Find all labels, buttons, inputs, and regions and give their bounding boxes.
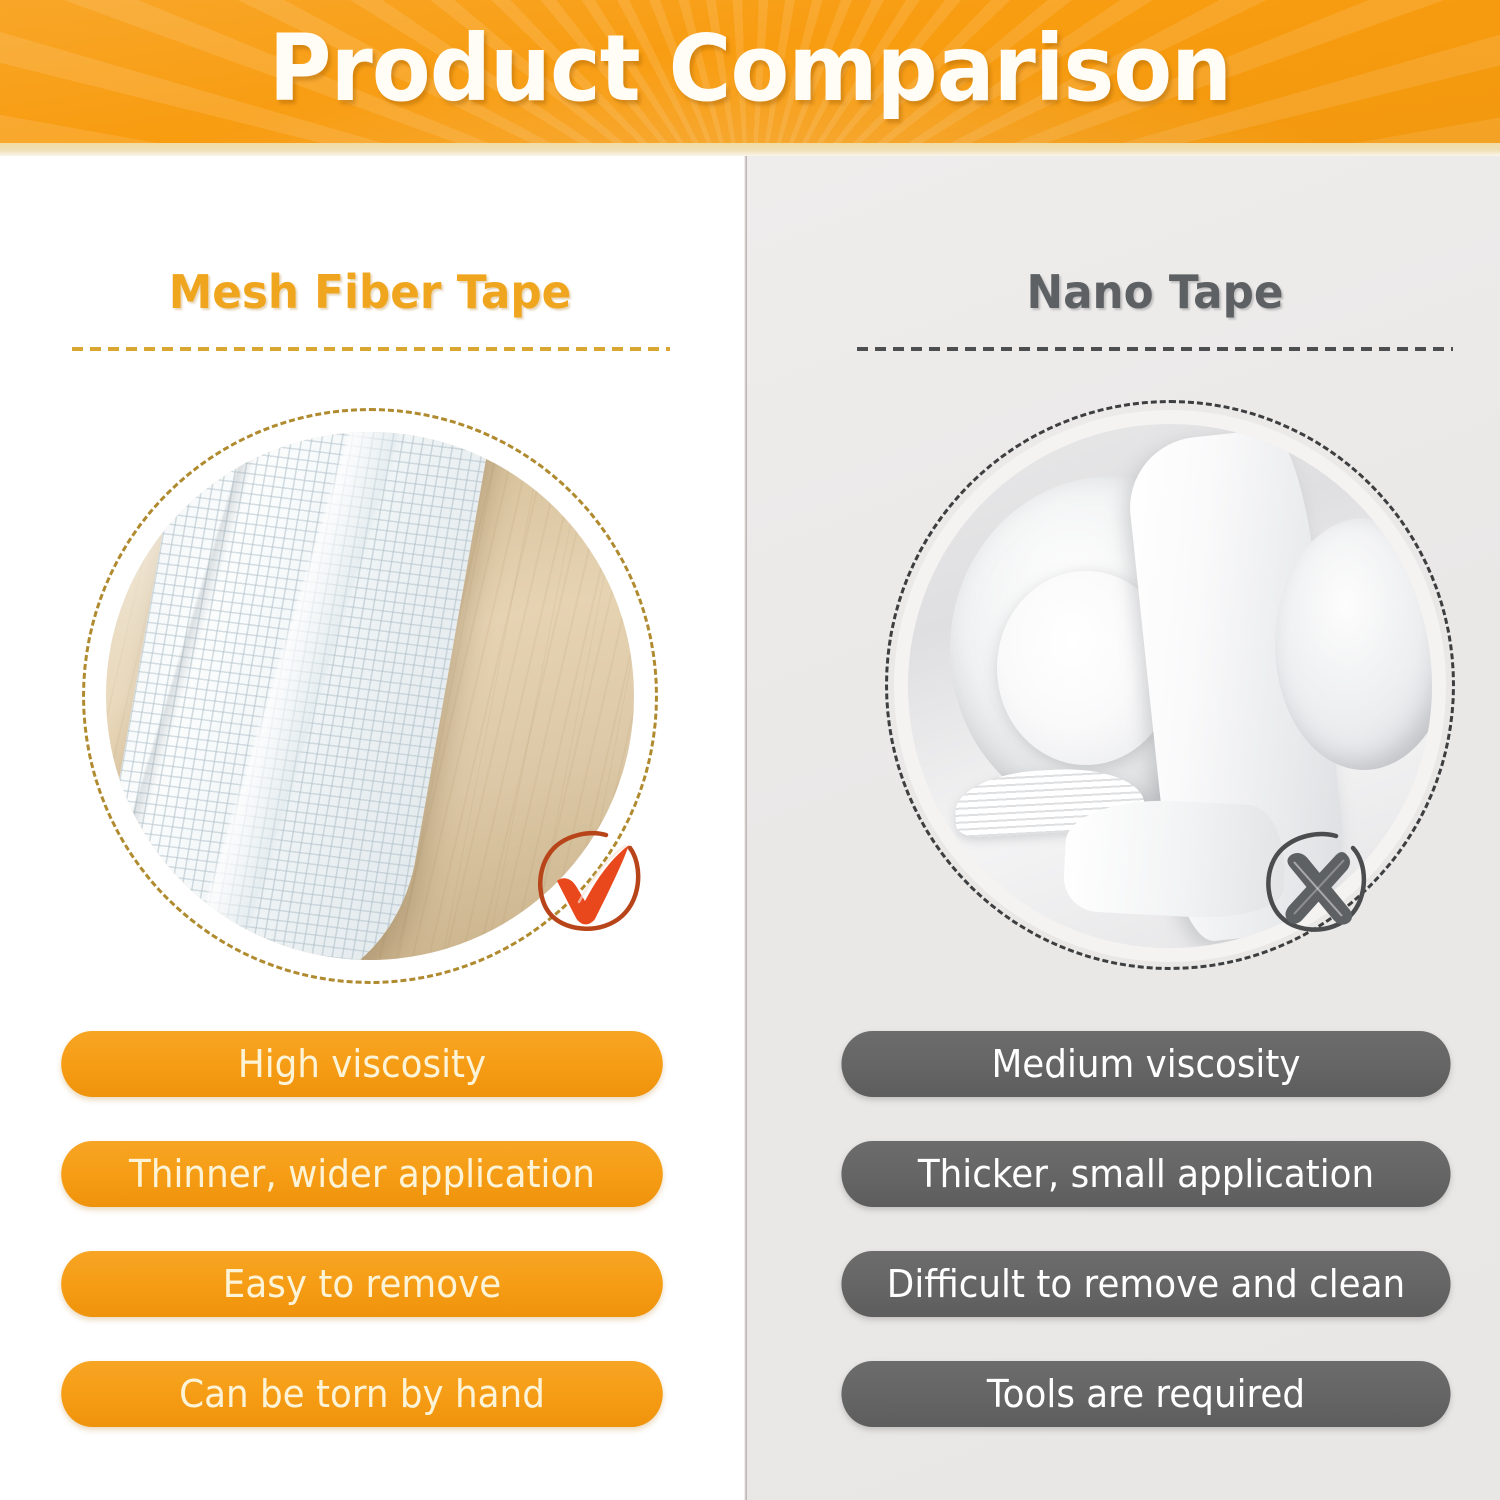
cross-badge (1258, 826, 1380, 948)
page-header: Product Comparison (0, 0, 1500, 143)
left-column-dashed-rule (72, 347, 670, 351)
product-comparison-page: Product Comparison Mesh Fiber Tape Nano … (0, 0, 1500, 1500)
right-feature-label-4: Tools are required (987, 1361, 1305, 1427)
right-column-dashed-rule (857, 347, 1453, 351)
right-feature-pill-4[interactable]: Tools are required (841, 1361, 1450, 1427)
left-feature-label-1: High viscosity (238, 1031, 486, 1097)
left-column-title: Mesh Fiber Tape (85, 262, 655, 322)
right-feature-label-2: Thicker, small application (918, 1141, 1374, 1207)
left-feature-pill-1[interactable]: High viscosity (61, 1031, 663, 1097)
nano-tape-tail (1062, 796, 1288, 923)
right-feature-pill-3[interactable]: Difficult to remove and clean (841, 1251, 1450, 1317)
left-feature-pill-2[interactable]: Thinner, wider application (61, 1141, 663, 1207)
left-feature-pill-4[interactable]: Can be torn by hand (61, 1361, 663, 1427)
cross-icon (1258, 826, 1380, 948)
right-feature-label-3: Difficult to remove and clean (887, 1251, 1405, 1317)
header-underbar (0, 143, 1500, 156)
left-feature-label-2: Thinner, wider application (129, 1141, 595, 1207)
check-badge (530, 824, 652, 946)
right-feature-label-1: Medium viscosity (991, 1031, 1300, 1097)
left-feature-pill-3[interactable]: Easy to remove (61, 1251, 663, 1317)
page-title: Product Comparison (53, 14, 1448, 124)
left-feature-label-3: Easy to remove (223, 1251, 501, 1317)
check-icon (530, 824, 652, 946)
left-feature-label-4: Can be torn by hand (179, 1361, 545, 1427)
right-column-title: Nano Tape (870, 262, 1440, 322)
right-feature-pill-1[interactable]: Medium viscosity (841, 1031, 1450, 1097)
right-feature-pill-2[interactable]: Thicker, small application (841, 1141, 1450, 1207)
panel-divider (744, 156, 747, 1500)
